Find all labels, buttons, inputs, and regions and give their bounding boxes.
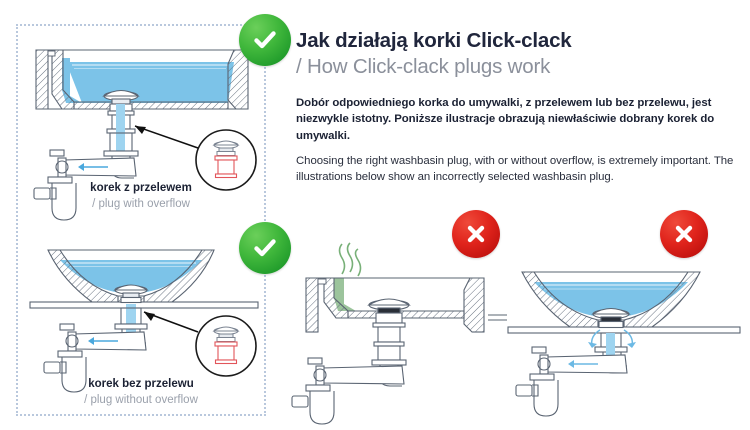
plug-without-overflow-detail (196, 316, 256, 376)
illustration-wrong-plug-with-overflow (292, 232, 507, 422)
caption-pl-text: korek bez przelewu (26, 377, 256, 393)
infographic-root: korek z przelewem / plug with overflow k… (0, 0, 750, 430)
illustration-plug-without-overflow (22, 228, 272, 393)
caption-plug-with-overflow: korek z przelewem / plug with overflow (26, 181, 256, 212)
page-title-pl: Jak działają korki Click-clack (296, 30, 742, 53)
check-icon (239, 222, 291, 274)
cross-icon (660, 210, 708, 258)
text-column: Jak działają korki Click-clack / How Cli… (296, 30, 742, 185)
page-title-en: / How Click-clack plugs work (296, 55, 742, 79)
caption-pl-text: korek z przelewem (26, 181, 256, 197)
illustration-wrong-plug-without-overflow (508, 232, 743, 422)
description-en: Choosing the right washbasin plug, with … (296, 153, 742, 185)
cross-icon (452, 210, 500, 258)
caption-plug-without-overflow: korek bez przelewu / plug without overfl… (26, 377, 256, 408)
illustration-plug-with-overflow (22, 30, 272, 190)
description-pl: Dobór odpowiedniego korka do umywalki, z… (296, 95, 742, 144)
odor-waves-icon (340, 243, 361, 276)
caption-en-text: / plug with overflow (26, 197, 256, 213)
check-icon (239, 14, 291, 66)
caption-en-text: / plug without overflow (26, 393, 256, 409)
